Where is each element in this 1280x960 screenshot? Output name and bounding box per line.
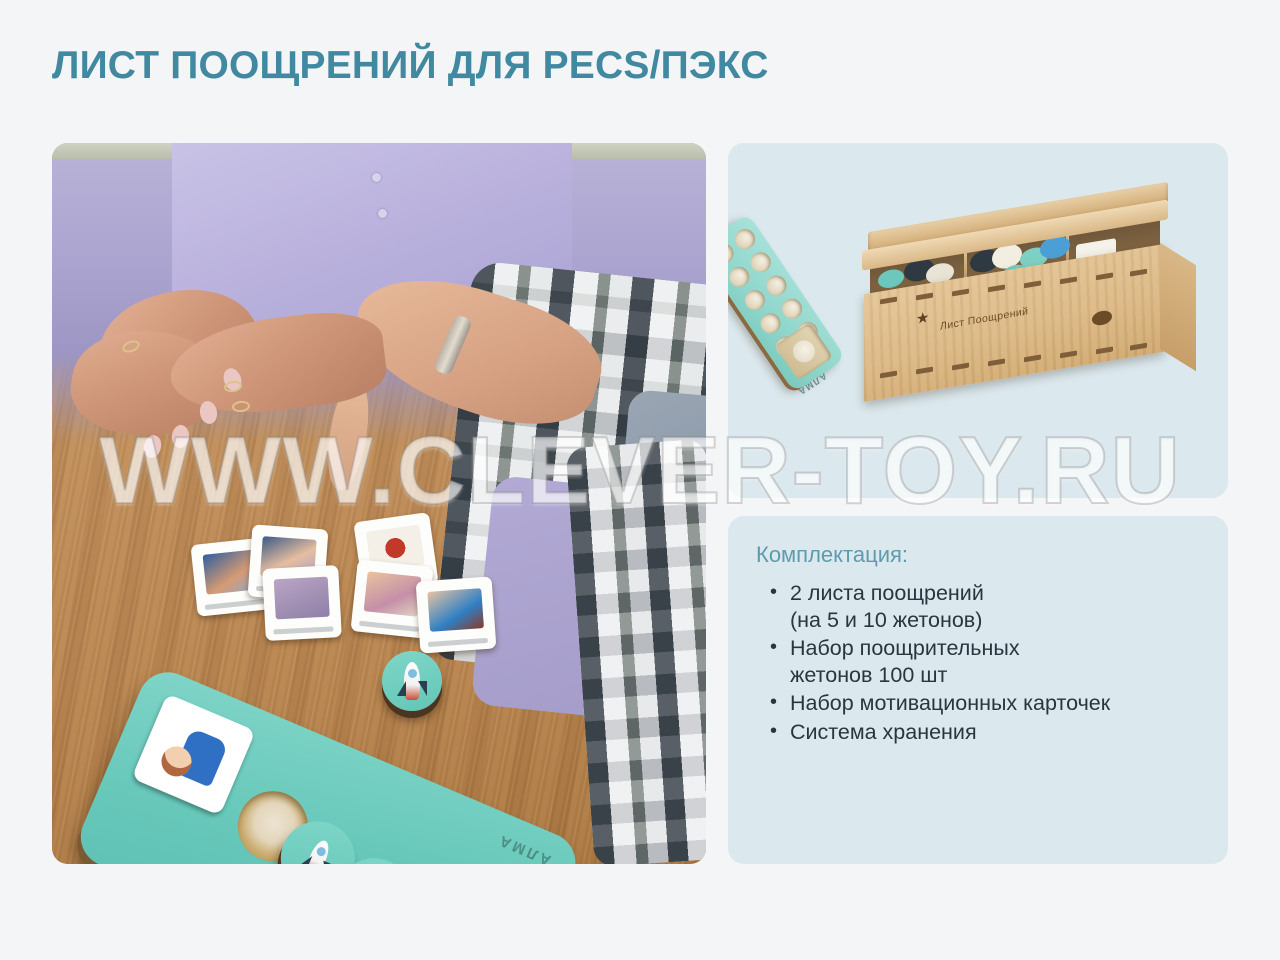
list-item: Набор мотивационных карточек bbox=[756, 690, 1200, 717]
pecs-card bbox=[416, 576, 497, 653]
specs-list: 2 листа поощрений (на 5 и 10 жетонов) На… bbox=[756, 580, 1200, 745]
list-item: Набор поощрительных жетонов 100 шт bbox=[756, 635, 1200, 688]
page-title: ЛИСТ ПООЩРЕНИЙ ДЛЯ PECS/ПЭКС bbox=[52, 44, 769, 88]
photo-panel-reward-board-in-use: АЛМА bbox=[52, 143, 706, 864]
specs-heading: Комплектация: bbox=[756, 542, 1200, 568]
reward-sheet-10-slots: АЛМА bbox=[728, 213, 846, 393]
pecs-card bbox=[262, 565, 342, 641]
specs-panel: Комплектация: 2 листа поощрений (на 5 и … bbox=[728, 516, 1228, 864]
wooden-storage-box: ★ Лист Поощрений bbox=[864, 191, 1194, 391]
list-item: 2 листа поощрений (на 5 и 10 жетонов) bbox=[756, 580, 1200, 633]
list-item: Система хранения bbox=[756, 719, 1200, 746]
loose-reward-token bbox=[382, 651, 442, 711]
product-box-panel: АЛМА bbox=[728, 143, 1228, 498]
star-icon: ★ bbox=[916, 308, 929, 328]
box-side-panel bbox=[1160, 243, 1196, 371]
